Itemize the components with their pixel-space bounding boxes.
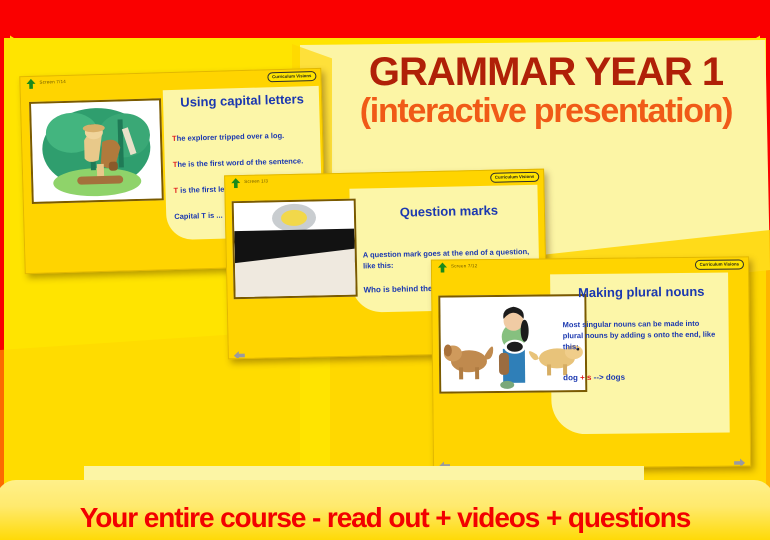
screen-counter: Screen 7/12	[451, 263, 478, 268]
screen-counter: Screen 7/14	[39, 79, 66, 85]
slide-image-explorer	[29, 98, 164, 204]
up-arrow-icon[interactable]	[231, 178, 240, 188]
example-plus: +	[580, 373, 585, 382]
paragraph-text: he explorer tripped over a log.	[177, 131, 285, 143]
slide-title: Making plural nouns	[556, 285, 726, 301]
poster-subtitle: (interactive presentation)	[336, 94, 756, 130]
example-result: dogs	[606, 373, 625, 382]
banner-text: Your entire course - read out + videos +…	[0, 502, 770, 534]
up-arrow-icon[interactable]	[26, 79, 35, 89]
brand-logo: Curriculum Visions	[490, 172, 540, 183]
poster-title: GRAMMAR YEAR 1	[336, 52, 756, 92]
brand-logo: Curriculum Visions	[695, 259, 744, 270]
slide-paragraph-1: Most singular nouns can be made into plu…	[563, 319, 721, 353]
back-arrow-icon[interactable]	[234, 347, 245, 356]
slide-making-plural-nouns[interactable]: Screen 7/12 Curriculum Visions	[431, 256, 751, 469]
brand-logo: Curriculum Visions	[267, 71, 317, 82]
poster-title-block: GRAMMAR YEAR 1 (interactive presentation…	[336, 52, 756, 130]
screen-counter: Screen 1/3	[244, 178, 268, 183]
slide-body: Making plural nouns Most singular nouns …	[432, 270, 750, 455]
slide-image-writing	[232, 199, 358, 300]
up-arrow-icon[interactable]	[438, 263, 447, 273]
banner: Your entire course - read out + videos +…	[0, 502, 770, 534]
poster-stage: GRAMMAR YEAR 1 (interactive presentation…	[0, 0, 770, 540]
slide-example-line: dog + s --> dogs	[563, 371, 721, 384]
example-suffix: s	[587, 373, 592, 382]
example-arrow: -->	[594, 373, 604, 382]
red-top-border	[0, 0, 770, 42]
forward-arrow-icon[interactable]	[734, 454, 745, 463]
example-word: dog	[563, 373, 578, 382]
